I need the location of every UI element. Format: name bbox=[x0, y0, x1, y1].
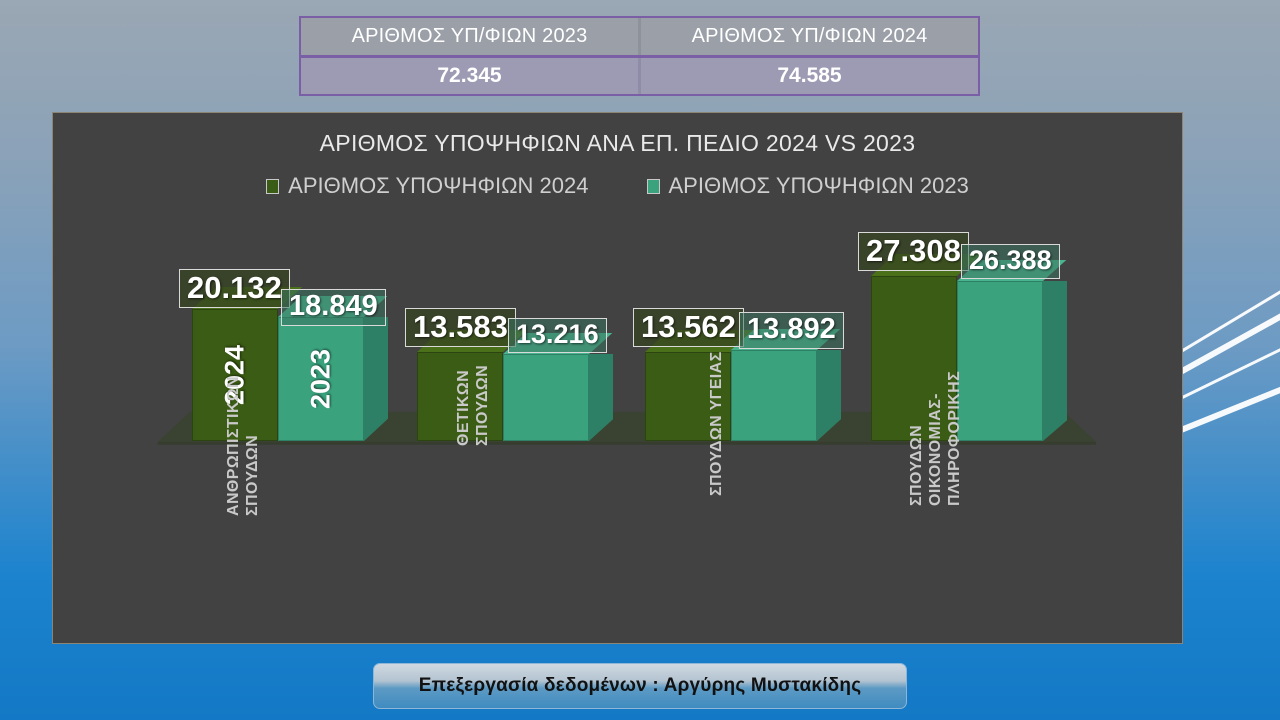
category-label-text: ΣΠΟΥΔΩΝ ΟΙΚΟΝΟΜΙΑΣ-ΠΛΗΡΟΦΟΡΙΚΗΣ bbox=[908, 371, 963, 506]
category-label-text: ΘΕΤΙΚΩΝ ΣΠΟΥΔΩΝ bbox=[455, 365, 491, 446]
bar-side-face bbox=[1043, 281, 1067, 441]
data-label-2023-group-1: 18.849 bbox=[281, 289, 386, 326]
category-label-2: ΘΕΤΙΚΩΝ ΣΠΟΥΔΩΝ bbox=[455, 331, 493, 446]
plot-area: 2024 2023 20.132 18.849 ΑΝΘΡΩΠΙΣΤΙΚΩΝ ΣΠ… bbox=[53, 113, 1182, 643]
category-label-4: ΣΠΟΥΔΩΝ ΟΙΚΟΝΟΜΙΑΣ-ΠΛΗΡΟΦΟΡΙΚΗΣ bbox=[908, 331, 968, 506]
bar-front-face bbox=[957, 281, 1043, 441]
category-label-3: ΣΠΟΥΔΩΝ ΥΓΕΙΑΣ bbox=[708, 331, 727, 496]
category-label-1: ΑΝΘΡΩΠΙΣΤΙΚΩΝ ΣΠΟΥΔΩΝ bbox=[225, 331, 263, 516]
data-label-text: 26.388 bbox=[969, 245, 1052, 275]
data-label-2023-group-2: 13.216 bbox=[508, 318, 607, 353]
data-label-2023-group-3: 13.892 bbox=[739, 312, 844, 349]
data-label-text: 20.132 bbox=[187, 270, 282, 305]
summary-value-2024: 74.585 bbox=[641, 58, 978, 95]
summary-value-row: 72.345 74.585 bbox=[301, 58, 978, 95]
category-label-text: ΑΝΘΡΩΠΙΣΤΙΚΩΝ ΣΠΟΥΔΩΝ bbox=[225, 376, 261, 516]
bar-2023-group-2[interactable] bbox=[503, 354, 589, 441]
bar-2023-group-1[interactable]: 2023 bbox=[278, 317, 364, 441]
data-label-text: 27.308 bbox=[866, 233, 961, 268]
data-label-text: 13.216 bbox=[516, 319, 599, 349]
summary-value-2023: 72.345 bbox=[301, 58, 641, 95]
bar-front-face bbox=[731, 350, 817, 441]
bar-2023-group-3[interactable] bbox=[731, 350, 817, 441]
bar-side-face bbox=[364, 317, 388, 441]
summary-header-2024: ΑΡΙΘΜΟΣ ΥΠ/ΦΙΩΝ 2024 bbox=[641, 18, 978, 55]
data-label-2024-group-1: 20.132 bbox=[179, 269, 290, 308]
data-label-2023-group-4: 26.388 bbox=[961, 244, 1060, 279]
summary-table: ΑΡΙΘΜΟΣ ΥΠ/ΦΙΩΝ 2023 ΑΡΙΘΜΟΣ ΥΠ/ΦΙΩΝ 202… bbox=[299, 16, 980, 96]
credit-banner: Επεξεργασία δεδομένων : Αργύρης Μυστακίδ… bbox=[373, 663, 907, 709]
data-label-2024-group-3: 13.562 bbox=[633, 308, 744, 347]
bar-side-face bbox=[589, 354, 613, 441]
bar-2023-group-4[interactable] bbox=[957, 281, 1043, 441]
bar-side-face bbox=[817, 350, 841, 441]
summary-header-row: ΑΡΙΘΜΟΣ ΥΠ/ΦΙΩΝ 2023 ΑΡΙΘΜΟΣ ΥΠ/ΦΙΩΝ 202… bbox=[301, 18, 978, 58]
data-label-text: 18.849 bbox=[289, 290, 378, 322]
bar-inner-label-2023: 2023 bbox=[306, 349, 337, 409]
data-label-2024-group-4: 27.308 bbox=[858, 232, 969, 271]
data-label-text: 13.892 bbox=[747, 313, 836, 345]
category-label-text: ΣΠΟΥΔΩΝ ΥΓΕΙΑΣ bbox=[708, 351, 725, 496]
credit-text: Επεξεργασία δεδομένων : Αργύρης Μυστακίδ… bbox=[419, 675, 862, 697]
bar-front-face bbox=[503, 354, 589, 441]
chart-panel: ΑΡΙΘΜΟΣ ΥΠΟΨΗΦΙΩΝ ΑΝΑ ΕΠ. ΠΕΔΙΟ 2024 VS … bbox=[52, 112, 1183, 644]
summary-header-2023: ΑΡΙΘΜΟΣ ΥΠ/ΦΙΩΝ 2023 bbox=[301, 18, 641, 55]
